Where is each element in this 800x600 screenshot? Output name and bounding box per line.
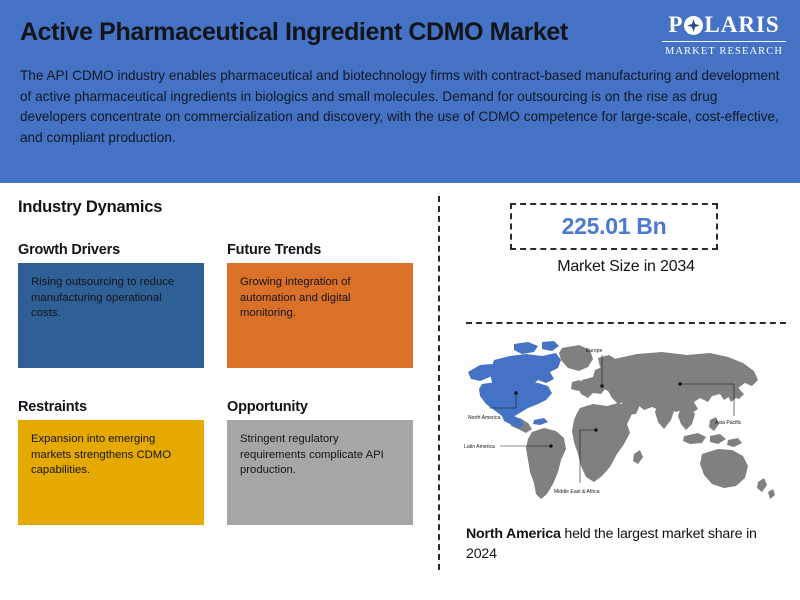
map-footnote-bold: North America [466, 526, 561, 542]
market-size-caption: Market Size in 2034 [466, 258, 786, 276]
compass-star-icon [684, 16, 703, 35]
card-box-growth-drivers: Rising outsourcing to reduce manufacturi… [18, 263, 204, 368]
card-box-restraints: Expansion into emerging markets strength… [18, 420, 204, 525]
card-title-opportunity: Opportunity [227, 399, 308, 415]
market-size-value-box: 225.01 Bn [510, 203, 718, 250]
logo-word-part-1: P [668, 12, 683, 38]
logo-wordmark: P LARIS [660, 12, 788, 38]
card-title-future-trends: Future Trends [227, 242, 321, 258]
logo-tagline: MARKET RESEARCH [660, 45, 788, 58]
map-label-europe: Europe [586, 348, 603, 354]
logo-divider [662, 41, 786, 42]
map-label-asia-pacific: Asia Pacific [715, 420, 742, 426]
map-label-north-america: North America [468, 415, 500, 421]
page-title: Active Pharmaceutical Ingredient CDMO Ma… [20, 16, 660, 48]
infographic-page: Active Pharmaceutical Ingredient CDMO Ma… [0, 0, 800, 600]
card-box-future-trends: Growing integration of automation and di… [227, 263, 413, 368]
horizontal-dashed-divider [466, 322, 786, 324]
map-label-latin-america: Latin America [464, 444, 495, 450]
header-description: The API CDMO industry enables pharmaceut… [20, 66, 780, 148]
world-map: North America Europe Asia Pacific Latin … [462, 336, 792, 508]
card-title-growth-drivers: Growth Drivers [18, 242, 120, 258]
card-box-opportunity: Stringent regulatory requirements compli… [227, 420, 413, 525]
industry-dynamics-title: Industry Dynamics [18, 198, 162, 217]
header-banner: Active Pharmaceutical Ingredient CDMO Ma… [0, 0, 800, 183]
logo-word-part-2: LARIS [704, 12, 779, 38]
vertical-dashed-divider [438, 196, 440, 570]
card-text-restraints: Expansion into emerging markets strength… [31, 432, 191, 479]
card-title-restraints: Restraints [18, 399, 87, 415]
card-text-opportunity: Stringent regulatory requirements compli… [240, 432, 400, 479]
card-text-future-trends: Growing integration of automation and di… [240, 275, 400, 322]
market-size-value: 225.01 Bn [562, 213, 667, 240]
map-footnote: North America held the largest market sh… [466, 524, 782, 564]
map-label-middle-east-africa: Middle East & Africa [554, 489, 600, 495]
card-text-growth-drivers: Rising outsourcing to reduce manufacturi… [31, 275, 191, 322]
polaris-logo: P LARIS MARKET RESEARCH [660, 12, 788, 58]
